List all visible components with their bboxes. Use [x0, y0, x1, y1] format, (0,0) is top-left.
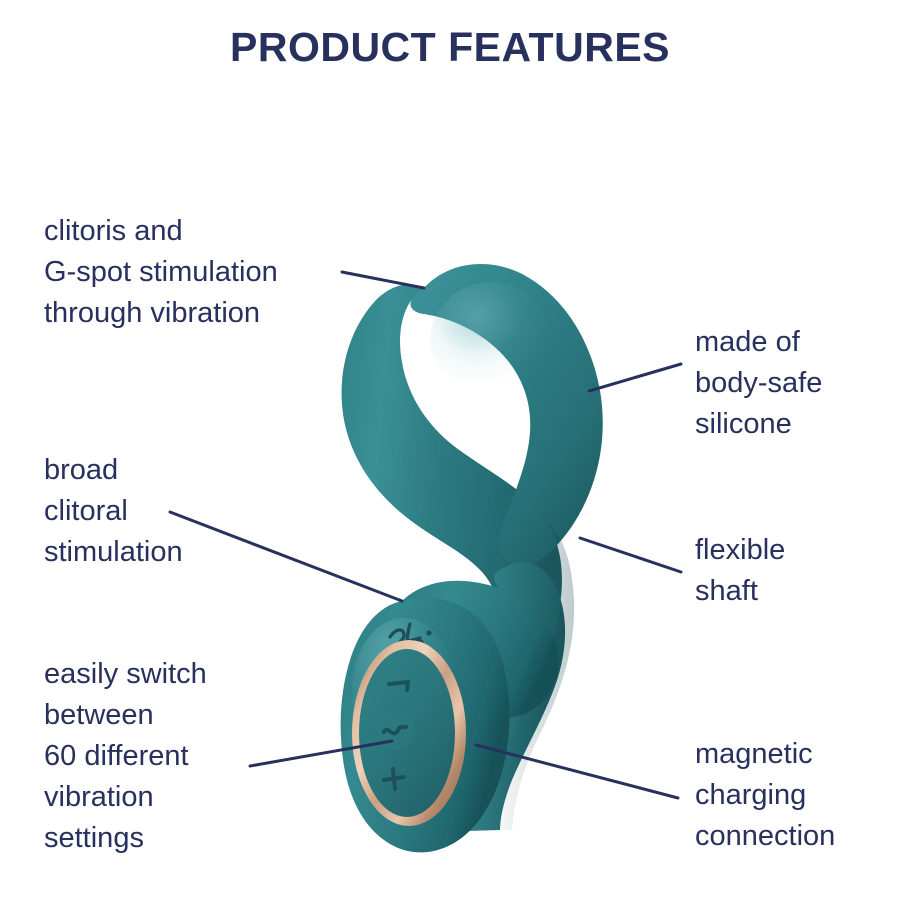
callout-line: easily switch: [44, 654, 207, 695]
callout-clitoris-gspot: clitoris and G-spot stimulation through …: [44, 211, 278, 334]
callout-flexible-shaft: flexible shaft: [695, 530, 785, 612]
callout-line: through vibration: [44, 293, 278, 334]
callout-broad-clitoral: broad clitoral stimulation: [44, 450, 183, 573]
product-features-infographic: PRODUCT FEATURES: [0, 0, 900, 900]
callout-line: flexible: [695, 530, 785, 571]
callout-line: charging: [695, 775, 835, 816]
callout-line: connection: [695, 816, 835, 857]
callout-magnetic-charging: magnetic charging connection: [695, 734, 835, 857]
callout-line: 60 different: [44, 736, 207, 777]
callout-line: shaft: [695, 571, 785, 612]
callout-easily-switch: easily switch between 60 different vibra…: [44, 654, 207, 859]
callout-line: broad: [44, 450, 183, 491]
callout-line: silicone: [695, 404, 822, 445]
callout-line: G-spot stimulation: [44, 252, 278, 293]
callout-line: clitoral: [44, 491, 183, 532]
callout-line: body-safe: [695, 363, 822, 404]
control-panel-oval[interactable]: [352, 640, 466, 826]
head-highlight: [430, 282, 554, 398]
callout-line: vibration: [44, 777, 207, 818]
callout-line: magnetic: [695, 734, 835, 775]
callout-line: settings: [44, 818, 207, 859]
callout-line: made of: [695, 322, 822, 363]
wave-button[interactable]: [375, 710, 415, 750]
callout-line: stimulation: [44, 532, 183, 573]
callout-line: clitoris and: [44, 211, 278, 252]
callout-body-safe-silicone: made of body-safe silicone: [695, 322, 822, 445]
callout-line: between: [44, 695, 207, 736]
